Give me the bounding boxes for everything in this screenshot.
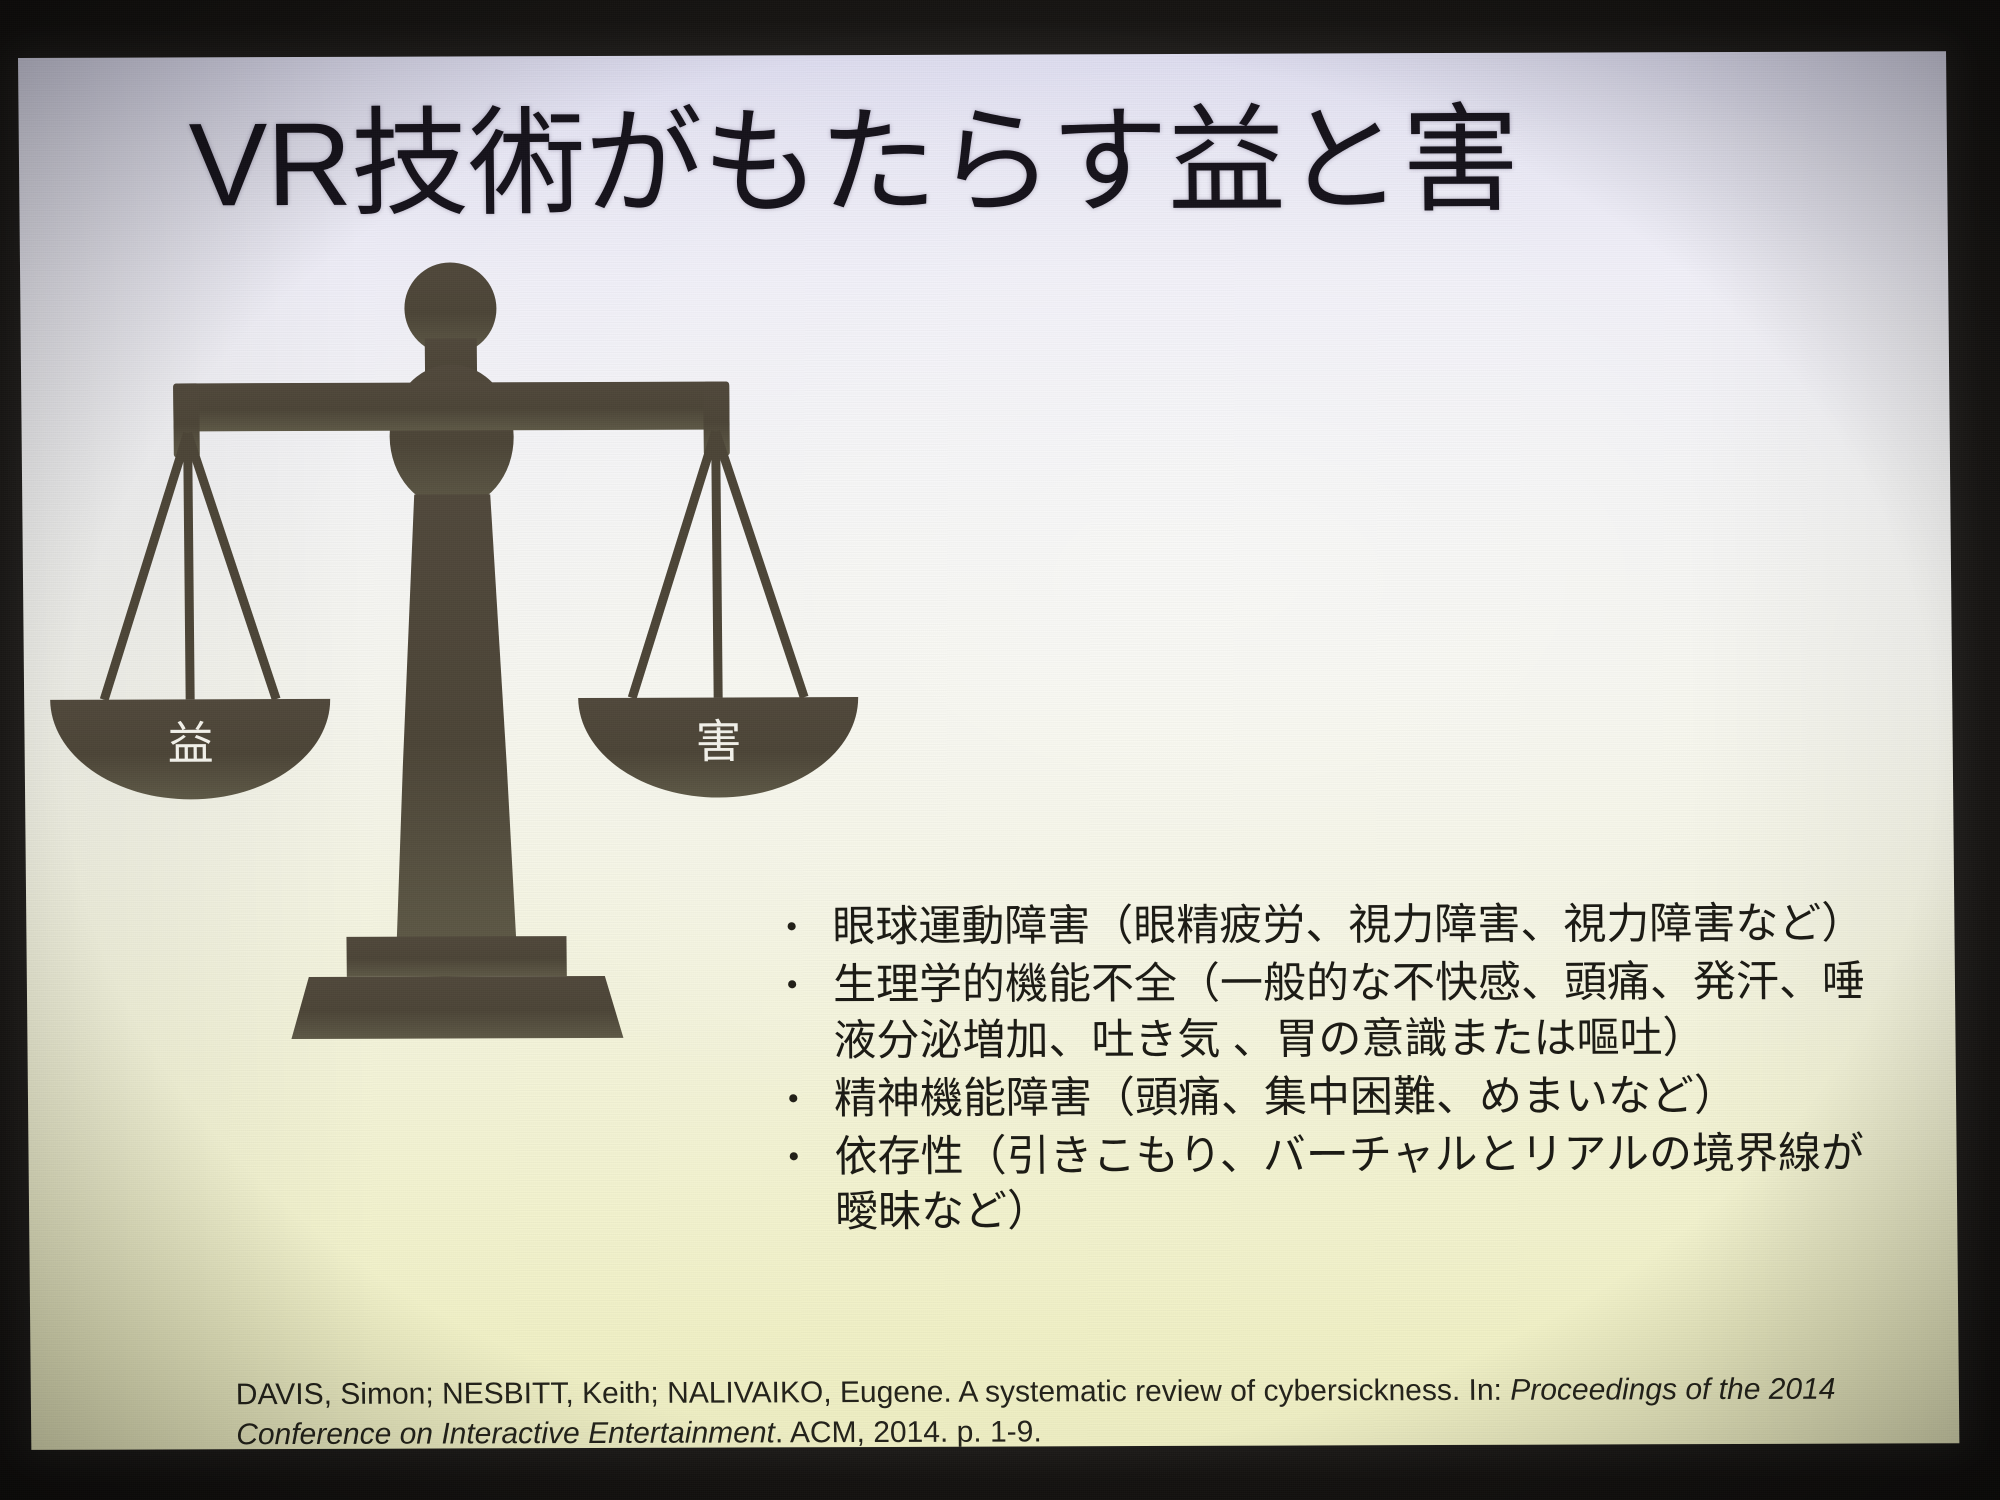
bullet-marker: • [788,1130,835,1185]
harm-bullet-list: • 眼球運動障害（眼精疲労、視力障害、視力障害など） • 生理学的機能不全（一般… [786,896,1959,1244]
slide-canvas: VR技術がもたらす益と害 [18,51,1959,1450]
list-item-line-1: 生理学的機能不全（一般的な不快感、頭痛、発汗、唾 [833,957,1865,1009]
citation-reference: DAVIS, Simon; NESBITT, Keith; NALIVAIKO,… [236,1370,1857,1450]
list-item-text: 精神機能障害（頭痛、集中困難、めまいなど） [834,1068,1960,1128]
bullet-marker: • [787,958,834,1013]
right-pan-strings [630,431,805,698]
balance-scale-icon: 益 害 [40,245,868,1098]
list-item-text: 依存性（引きこもり、バーチャルとリアルの境界線が 曖昧など） [834,1126,1959,1242]
list-item-text: 生理学的機能不全（一般的な不快感、頭痛、発汗、唾 液分泌増加、吐き気 、胃の意識… [833,954,1960,1070]
list-item: • 依存性（引きこもり、バーチャルとリアルの境界線が 曖昧など） [788,1126,1959,1242]
list-item-line-1: 精神機能障害（頭痛、集中困難、めまいなど） [834,1072,1737,1123]
right-pan-label: 害 [695,715,741,767]
list-item-line-2: 液分泌増加、吐き気 、胃の意識または嘔吐） [833,1010,1959,1070]
list-item-line-2: 曖昧など） [835,1182,1960,1242]
left-pan-strings [102,433,277,700]
slide-surface: VR技術がもたらす益と害 [18,51,1959,1450]
citation-part-1: DAVIS, Simon; NESBITT, Keith; NALIVAIKO,… [236,1374,1511,1411]
left-pan-label: 益 [167,717,213,769]
list-item-text: 眼球運動障害（眼精疲労、視力障害、視力障害など） [832,896,1959,956]
list-item: • 眼球運動障害（眼精疲労、視力障害、視力障害など） [786,896,1959,956]
projected-slide-photo: VR技術がもたらす益と害 [0,0,2000,1500]
list-item: • 精神機能障害（頭痛、集中困難、めまいなど） [788,1068,1960,1128]
slide-title: VR技術がもたらす益と害 [188,92,1789,234]
list-item-line-1: 眼球運動障害（眼精疲労、視力障害、視力障害など） [832,900,1864,952]
citation-part-2: . ACM, 2014. p. 1-9. [775,1416,1042,1450]
list-item: • 生理学的機能不全（一般的な不快感、頭痛、発汗、唾 液分泌増加、吐き気 、胃の… [787,954,1960,1070]
bullet-marker: • [788,1072,835,1127]
list-item-line-1: 依存性（引きこもり、バーチャルとリアルの境界線が [834,1129,1864,1181]
bullet-marker: • [786,900,833,955]
